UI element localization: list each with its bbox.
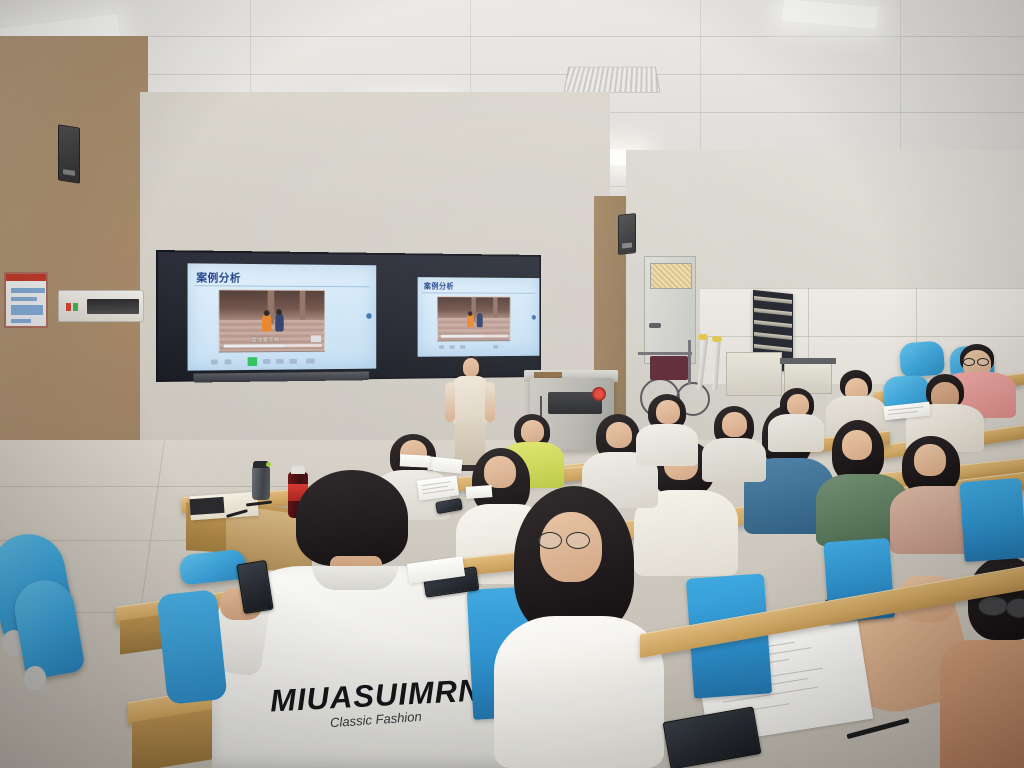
foreground-man-collar [312,566,398,590]
video-person-orange [262,314,271,332]
side-table-top [780,358,836,364]
wheelchair-frame [688,340,691,384]
thermos-marker [266,462,271,467]
eyeglasses [978,596,1008,616]
door-handle[interactable] [649,323,661,328]
poster-header [6,274,48,281]
main-projection-screen[interactable]: 案例分析 请注意了吗 [188,263,377,370]
seat-hinge [24,666,46,690]
video-progress-fill [441,335,483,338]
player-control[interactable] [263,359,271,364]
video-person-head [264,310,270,316]
slide-title: 案例分析 [196,269,241,285]
audience-head [484,456,516,488]
ceiling-seam [0,36,1024,37]
eyeglasses [977,358,989,366]
video-progress-fill [224,344,286,347]
secondary-projection-screen[interactable]: 案例分析 [418,277,540,357]
pocket-row [754,296,792,304]
paper-sheet [466,485,493,499]
foreground-man-hair [296,470,408,566]
school-emblem [592,387,606,401]
player-control[interactable] [493,345,498,349]
video-pillar [493,297,497,318]
projection-board: 案例分析 请注意了吗 [156,250,541,382]
audience-head [606,422,632,448]
player-control[interactable] [289,359,297,364]
wheelchair-seat [650,356,688,380]
video-person-blue [275,313,284,332]
audience-head [722,412,747,437]
seat-back[interactable] [959,478,1024,562]
video-progress-bar[interactable] [224,344,322,348]
audience-head [787,394,809,416]
audience-torso [768,414,824,452]
audience-head [656,400,680,424]
video-progress-bar[interactable] [441,335,509,338]
pocket-row [754,308,792,316]
video-person-blue [477,313,483,327]
control-panel-display [87,299,139,314]
crutch-pad [698,334,708,340]
presenter-head [463,358,479,377]
player-control[interactable] [276,359,284,364]
eyeglasses [566,532,590,549]
player-control[interactable] [225,359,232,364]
door-window [650,263,692,289]
eyeglasses [963,358,975,366]
slide-divider [422,292,535,293]
pocket-row [754,320,792,328]
wall-speaker [58,124,80,183]
player-play-button[interactable] [248,357,258,366]
poster-band [11,305,43,315]
notebook-spine [189,497,224,515]
slide-corner-badge [532,315,536,320]
eyeglasses [538,532,562,549]
auditorium-seat[interactable] [899,341,945,378]
paper-sheet [400,454,431,468]
foreground-woman-torso [494,616,664,768]
video-person-head [276,309,282,315]
thermos-bottle [252,466,270,500]
audience-head [521,420,544,443]
pocket-row [754,332,792,340]
audience-torso [702,438,766,482]
player-control[interactable] [450,345,455,349]
wall-control-panel[interactable] [58,290,144,322]
video-caption: 请注意了吗 [251,336,280,343]
foreground-right-shoulder [940,640,1024,768]
classroom-photo: 案例分析 请注意了吗 [0,0,1024,768]
presenter-torso [451,376,489,424]
presenter-arm [445,382,455,422]
wall-speaker [618,213,636,255]
ceiling-seam [0,74,1024,75]
player-control[interactable] [306,359,314,364]
wall-poster [4,272,48,328]
pocket-row [754,344,792,352]
side-cabinet [726,352,782,396]
status-led-red [66,303,71,311]
crutch-pad [712,336,722,342]
video-pillar [300,291,306,320]
presenter-arm [485,382,495,422]
poster-band [11,319,31,323]
seat-back-foreground[interactable] [156,589,227,705]
slide-corner-badge [366,313,371,319]
poster-band [11,288,45,293]
left-wood-wall [0,36,148,506]
slide-video[interactable]: 请注意了吗 [219,289,325,352]
poster-band [11,297,37,301]
slide-video-secondary[interactable] [437,296,510,341]
audience-torso [636,424,698,466]
status-led-green [73,303,78,311]
air-vent [563,67,660,93]
wall-tile-line [700,336,1024,337]
video-person-orange [467,314,474,327]
video-person-head [468,311,472,316]
slide-title-secondary: 案例分析 [424,281,454,292]
player-control[interactable] [439,345,444,349]
audience-head [914,444,946,476]
slide-divider [194,285,369,287]
audience-head [842,430,872,460]
cola-cap [291,466,305,474]
wheelchair-frame [638,352,692,355]
player-control[interactable] [460,345,465,349]
player-control[interactable] [211,359,218,364]
video-fullscreen-icon[interactable] [311,335,321,342]
